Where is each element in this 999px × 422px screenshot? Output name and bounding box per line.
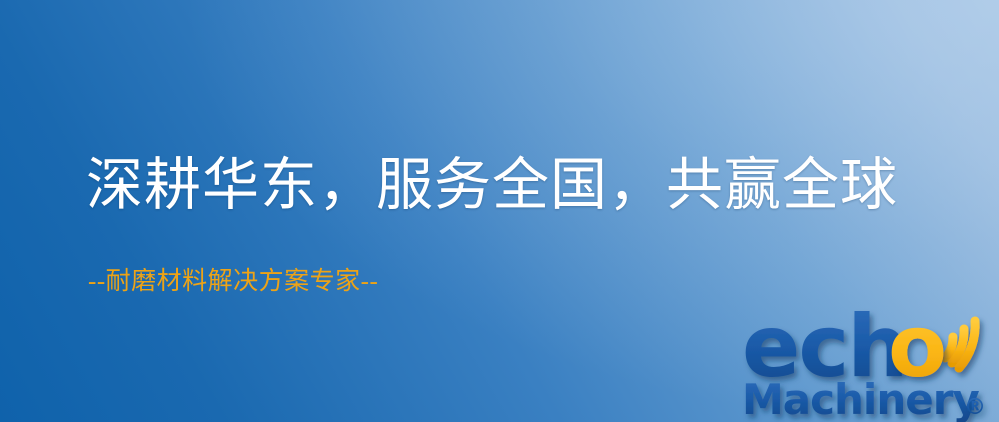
logo-registered-mark: ® xyxy=(964,395,986,420)
company-logo[interactable]: ech o Machinery ® xyxy=(742,296,999,422)
banner-subtitle: --耐磨材料解决方案专家-- xyxy=(88,268,378,296)
hero-banner: 深耕华东，服务全国，共赢全球 --耐磨材料解决方案专家-- xyxy=(0,0,999,422)
logo-brand-secondary: Machinery xyxy=(742,375,979,422)
signal-waves-icon xyxy=(945,321,975,368)
banner-headline: 深耕华东，服务全国，共赢全球 xyxy=(86,155,898,217)
